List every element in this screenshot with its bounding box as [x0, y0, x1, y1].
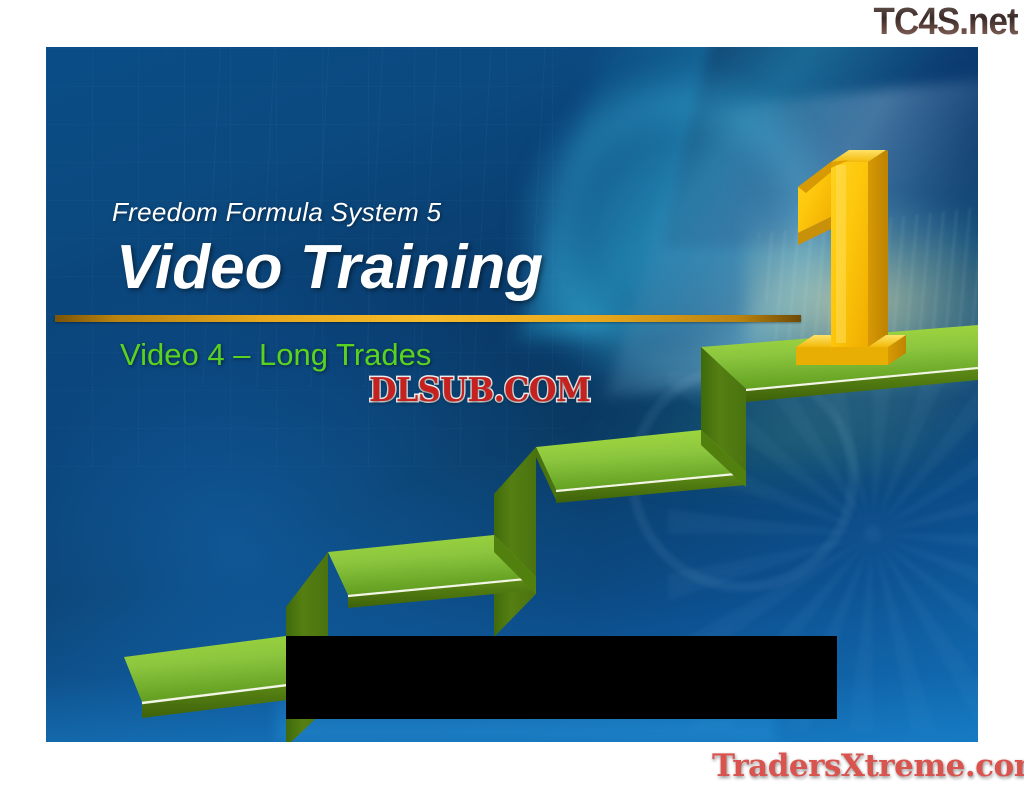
tc4s-watermark: TC4S.net [874, 2, 1018, 42]
slide-video-label: Video 4 – Long Trades [120, 337, 431, 373]
page-canvas: TC4S.net [0, 0, 1024, 791]
dlsub-watermark: DLSUB.COM [369, 373, 591, 407]
title-divider-rule [55, 315, 801, 322]
presentation-slide: Freedom Formula System 5 Video Training … [46, 47, 978, 742]
redaction-bar [286, 636, 837, 719]
stair-step-2 [328, 447, 536, 637]
slide-title: Video Training [116, 232, 543, 303]
slide-subtitle: Freedom Formula System 5 [112, 197, 441, 228]
tradersxtreme-watermark: TradersXtreme.com [712, 750, 1024, 783]
